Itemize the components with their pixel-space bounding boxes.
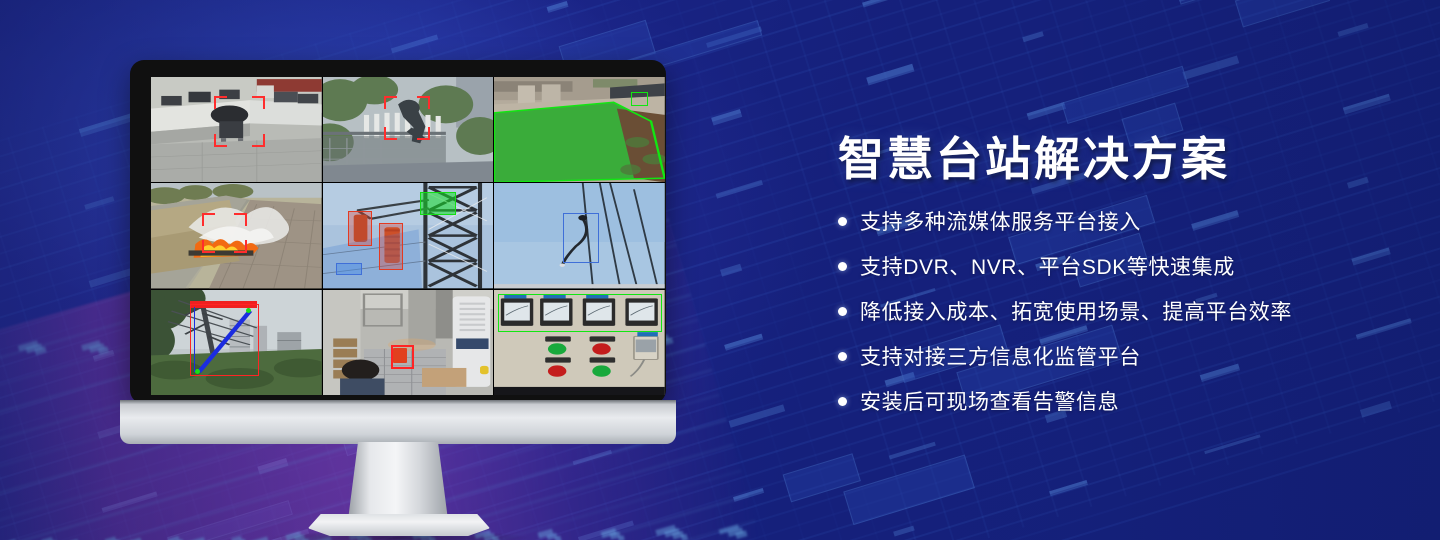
detection-box-meters bbox=[498, 294, 662, 332]
camera-tile-5[interactable] bbox=[323, 183, 494, 288]
monitor-screen bbox=[151, 77, 665, 395]
banner-content: 智慧台站解决方案 支持多种流媒体服务平台接入支持DVR、NVR、平台SDK等快速… bbox=[838, 132, 1378, 432]
feature-label: 支持多种流媒体服务平台接入 bbox=[860, 206, 1141, 236]
detection-box-insulator-2 bbox=[379, 223, 403, 269]
camera-tile-6[interactable] bbox=[494, 183, 665, 288]
detection-box-insulator-1 bbox=[348, 211, 372, 247]
detection-box-tower-top bbox=[420, 192, 456, 215]
monitor-stand-base bbox=[308, 514, 490, 536]
banner-stage: 智慧台站解决方案 支持多种流媒体服务平台接入支持DVR、NVR、平台SDK等快速… bbox=[0, 0, 1440, 540]
feature-item: 降低接入成本、拓宽使用场景、提高平台效率 bbox=[838, 296, 1378, 326]
bullet-dot-icon bbox=[838, 217, 847, 226]
feature-label: 安装后可现场查看告警信息 bbox=[860, 386, 1119, 416]
feature-item: 支持DVR、NVR、平台SDK等快速集成 bbox=[838, 251, 1378, 281]
feature-label: 支持对接三方信息化监管平台 bbox=[860, 341, 1141, 371]
camera-tile-7[interactable] bbox=[151, 290, 322, 395]
bullet-dot-icon bbox=[838, 352, 847, 361]
camera-tile-4[interactable] bbox=[151, 183, 322, 288]
monitor-chin bbox=[120, 400, 676, 444]
detection-box-person bbox=[214, 96, 265, 147]
feature-label: 降低接入成本、拓宽使用场景、提高平台效率 bbox=[860, 296, 1292, 326]
feature-label: 支持DVR、NVR、平台SDK等快速集成 bbox=[860, 251, 1235, 281]
monitor-stand-neck bbox=[348, 442, 448, 520]
detection-box-fire bbox=[202, 213, 246, 253]
detection-box-foreign-object bbox=[563, 213, 599, 263]
feature-item: 支持对接三方信息化监管平台 bbox=[838, 341, 1378, 371]
camera-tile-8[interactable] bbox=[323, 290, 494, 395]
feature-item: 安装后可现场查看告警信息 bbox=[838, 386, 1378, 416]
fire-extinguisher-object bbox=[393, 348, 407, 364]
measure-point-top bbox=[246, 308, 251, 313]
measure-point-bottom bbox=[195, 369, 200, 374]
detection-box-area bbox=[631, 92, 648, 107]
bullet-dot-icon bbox=[838, 307, 847, 316]
monitor-bezel bbox=[130, 60, 666, 404]
camera-tile-2[interactable] bbox=[323, 77, 494, 182]
camera-tile-9[interactable] bbox=[494, 290, 665, 395]
camera-tile-3[interactable] bbox=[494, 77, 665, 182]
bullet-dot-icon bbox=[838, 262, 847, 271]
camera-tile-1[interactable] bbox=[151, 77, 322, 182]
page-title: 智慧台站解决方案 bbox=[838, 132, 1378, 186]
detection-box-intrusion bbox=[384, 96, 430, 140]
desktop-monitor bbox=[120, 52, 676, 492]
feature-item: 支持多种流媒体服务平台接入 bbox=[838, 206, 1378, 236]
bullet-dot-icon bbox=[838, 397, 847, 406]
feature-list: 支持多种流媒体服务平台接入支持DVR、NVR、平台SDK等快速集成降低接入成本、… bbox=[838, 206, 1378, 416]
camera-grid bbox=[151, 77, 665, 395]
detection-box-line bbox=[336, 263, 362, 274]
